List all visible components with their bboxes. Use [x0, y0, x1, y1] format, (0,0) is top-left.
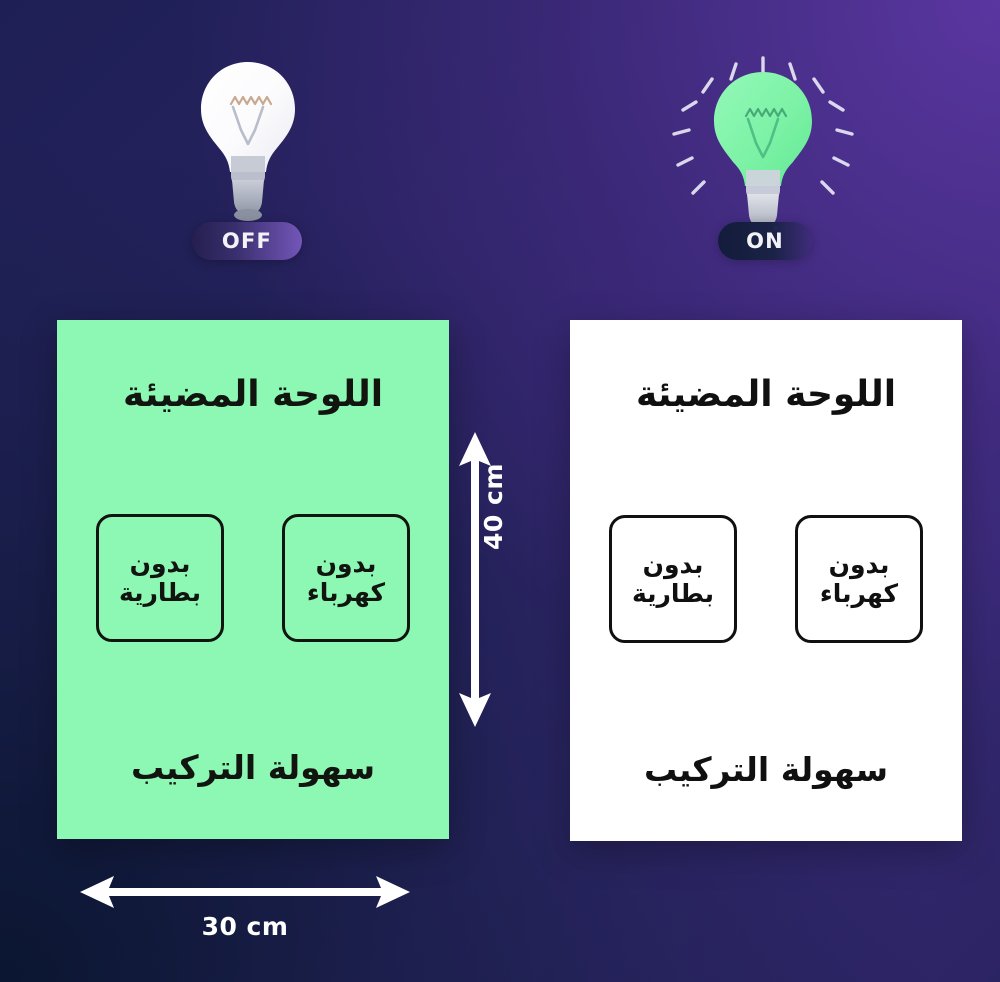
panel-plain-footer: سهولة التركيب [644, 750, 888, 789]
panel-glow: اللوحة المضيئة بدون بطارية بدون كهرباء س… [57, 320, 449, 839]
feature-no-electricity-plain-line2: كهرباء [820, 579, 898, 608]
feature-no-battery-plain-line2: بطارية [632, 579, 714, 608]
feature-no-electricity-plain-line1: بدون [829, 550, 890, 579]
feature-no-battery-line1: بدون [130, 549, 191, 578]
panel-plain-features: بدون بطارية بدون كهرباء [609, 515, 923, 643]
dimension-width-label: 30 cm [80, 912, 410, 941]
feature-box-no-electricity: بدون كهرباء [282, 514, 410, 642]
double-arrow-horizontal-icon [80, 872, 410, 912]
dimension-height-label: 40 cm [479, 463, 508, 550]
dimension-width: 30 cm [80, 872, 410, 952]
toggle-pill-off[interactable]: OFF [192, 222, 302, 260]
infographic-canvas: OFF [0, 0, 1000, 982]
feature-no-electricity-line1: بدون [316, 549, 377, 578]
panel-glow-footer: سهولة التركيب [131, 748, 375, 787]
panel-glow-title: اللوحة المضيئة [123, 375, 383, 415]
panel-glow-features: بدون بطارية بدون كهرباء [96, 514, 410, 642]
feature-box-no-battery: بدون بطارية [96, 514, 224, 642]
toggle-pill-on[interactable]: ON [718, 222, 812, 260]
feature-box-no-battery-plain: بدون بطارية [609, 515, 737, 643]
toggle-pill-on-label: ON [746, 229, 784, 253]
feature-no-battery-plain-line1: بدون [643, 550, 704, 579]
panel-plain-title: اللوحة المضيئة [636, 375, 896, 415]
feature-no-electricity-line2: كهرباء [307, 578, 385, 607]
feature-no-battery-line2: بطارية [119, 578, 201, 607]
lightbulb-on-icon [668, 52, 858, 237]
panel-plain: اللوحة المضيئة بدون بطارية بدون كهرباء س… [570, 320, 962, 841]
toggle-pill-off-label: OFF [222, 229, 272, 253]
feature-box-no-electricity-plain: بدون كهرباء [795, 515, 923, 643]
lightbulb-off-icon [183, 52, 313, 232]
dimension-height: 40 cm [455, 432, 565, 727]
